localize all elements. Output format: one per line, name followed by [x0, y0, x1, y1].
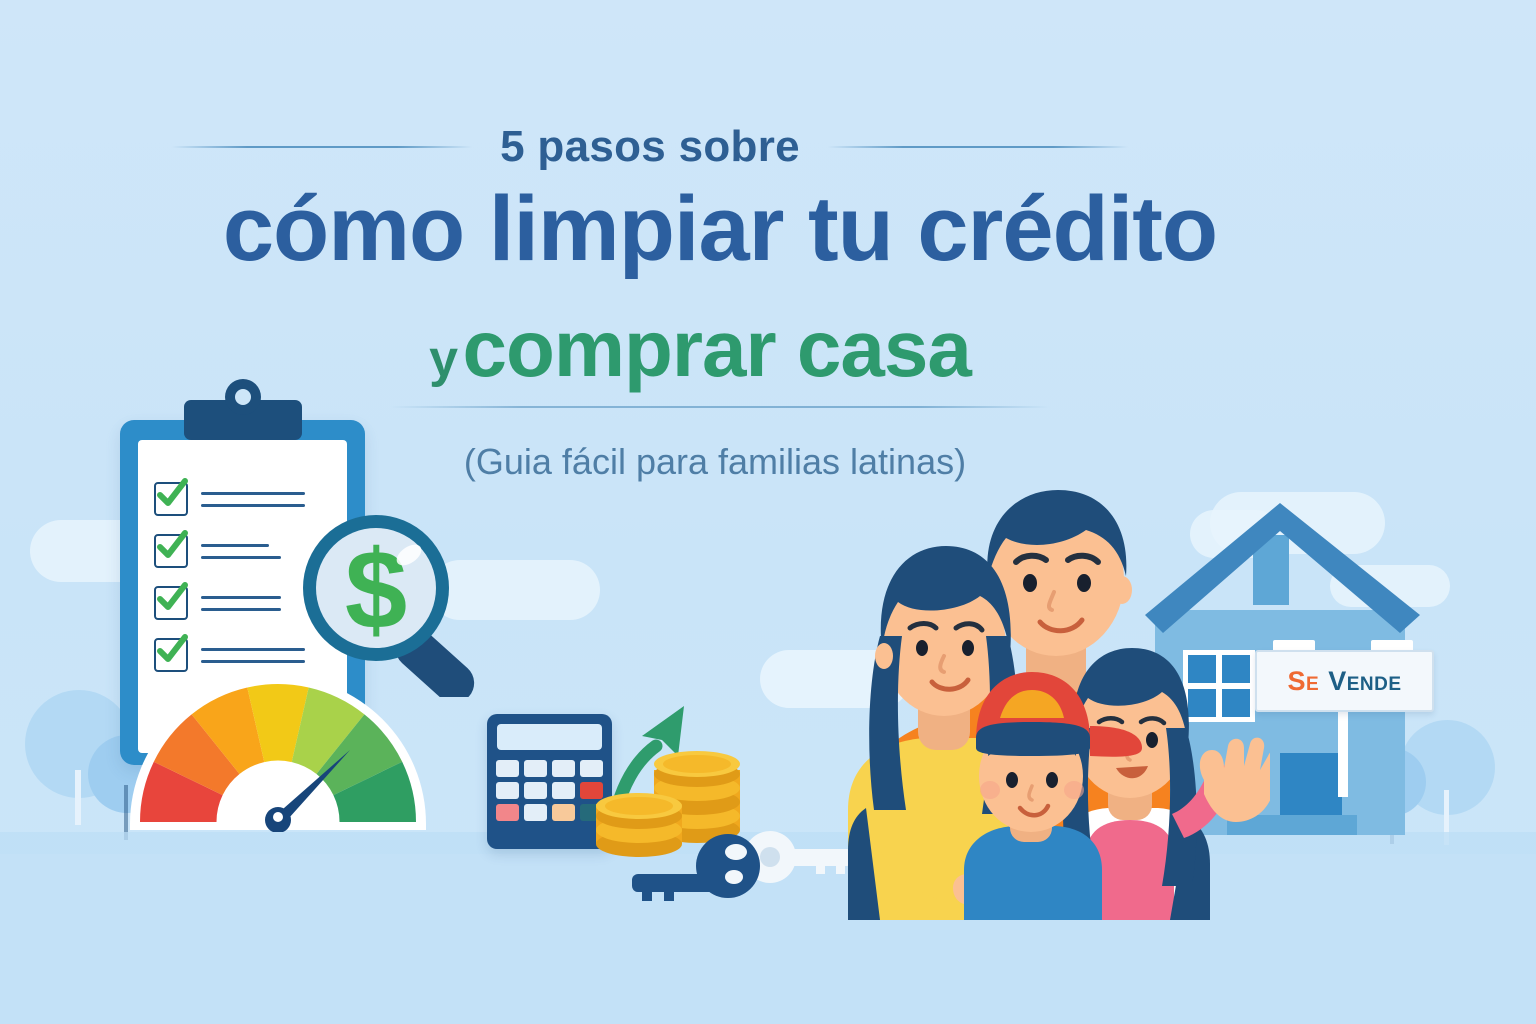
checklist-lines — [201, 492, 305, 507]
rule-left — [172, 146, 472, 148]
calculator-key — [496, 804, 519, 821]
key-blue — [632, 834, 760, 901]
checkbox-checked — [154, 482, 188, 516]
checklist-lines — [201, 544, 281, 559]
checkbox-checked — [154, 638, 188, 672]
calculator-key — [524, 760, 547, 777]
calculator-key — [496, 782, 519, 799]
kicker-text: 5 pasos sobre — [500, 122, 800, 172]
father-eye — [1023, 574, 1037, 592]
headline-conjunction: y — [429, 330, 458, 388]
father-eye — [1077, 574, 1091, 592]
house-keys — [620, 830, 855, 905]
latino-family — [840, 450, 1270, 930]
clipboard-ring — [225, 379, 261, 415]
sign-word-se: SE — [1287, 666, 1319, 697]
headline-line-2: y comprar casa — [0, 303, 1400, 395]
calculator-key — [524, 782, 547, 799]
sign-board: SE VENDE — [1255, 650, 1434, 712]
calculator-key — [496, 760, 519, 777]
girl-eye — [1146, 732, 1158, 748]
sign-word-vende: VENDE — [1328, 666, 1401, 697]
magnifying-glass-dollar: $ — [296, 512, 511, 697]
calculator-key — [524, 804, 547, 821]
calculator-display — [497, 724, 602, 750]
checklist-row — [154, 638, 305, 672]
mother-eye — [962, 640, 974, 656]
calculator-key — [552, 782, 575, 799]
checkbox-checked — [154, 534, 188, 568]
boy-eye — [1006, 772, 1018, 788]
cap-band — [976, 722, 1090, 756]
calculator-key — [552, 804, 575, 821]
rule-right — [828, 146, 1128, 148]
boy-cheek — [1064, 781, 1084, 799]
checklist-lines — [201, 648, 305, 663]
calculator-keys — [496, 760, 603, 821]
headline-line-1: cómo limpiar tu crédito — [0, 183, 1440, 277]
sign-post — [1338, 702, 1348, 797]
headline-accent: comprar casa — [463, 304, 971, 393]
headline-divider — [390, 406, 1050, 408]
boy-eye — [1046, 772, 1058, 788]
credit-score-gauge — [128, 672, 428, 832]
checkbox-checked — [154, 586, 188, 620]
calculator-key — [552, 760, 575, 777]
checklist-lines — [201, 596, 281, 611]
for-sale-sign: SE VENDE — [1255, 640, 1430, 735]
poster-canvas: 5 pasos sobre cómo limpiar tu crédito y … — [0, 0, 1536, 1024]
checklist-row — [154, 586, 281, 620]
dollar-sign: $ — [345, 527, 407, 652]
sign-word-se-rest: E — [1306, 674, 1319, 695]
checklist-row — [154, 534, 281, 568]
sign-word-vende-rest: ENDE — [1347, 674, 1402, 695]
checklist-row — [154, 482, 305, 516]
mother-eye — [916, 640, 928, 656]
boy-cheek — [980, 781, 1000, 799]
kicker-row: 5 pasos sobre — [0, 122, 1300, 172]
key-white — [744, 831, 852, 883]
